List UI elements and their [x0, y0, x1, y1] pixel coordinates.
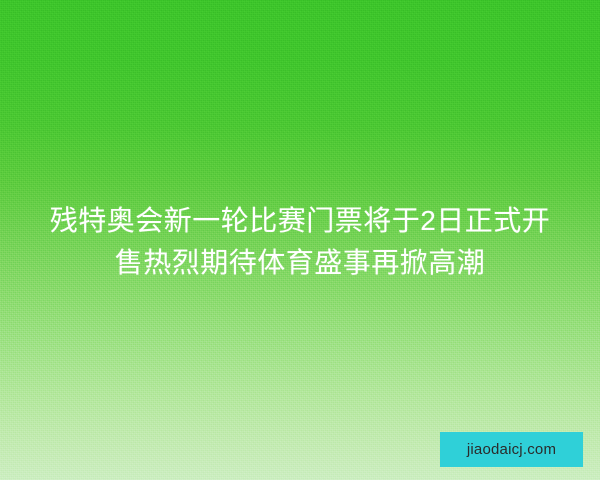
headline-line-2: 售热烈期待体育盛事再掀高潮 [0, 242, 600, 284]
headline-line-1: 残特奥会新一轮比赛门票将于2日正式开 [0, 200, 600, 242]
poster-canvas: 残特奥会新一轮比赛门票将于2日正式开 售热烈期待体育盛事再掀高潮 jiaodai… [0, 0, 600, 480]
watermark-badge: jiaodaicj.com [440, 432, 583, 467]
headline-text: 残特奥会新一轮比赛门票将于2日正式开 售热烈期待体育盛事再掀高潮 [0, 200, 600, 284]
